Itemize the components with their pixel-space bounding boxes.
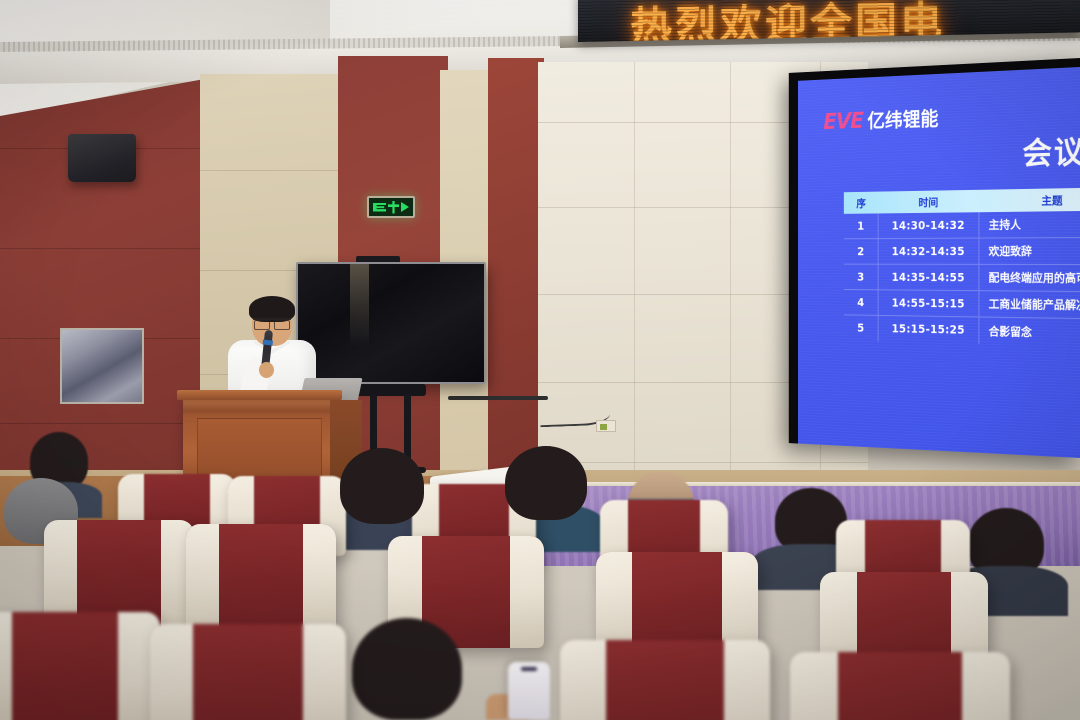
table-row: 1 14:30-14:32 主持人 xyxy=(844,211,1080,240)
table-row: 5 15:15-15:25 合影留念 xyxy=(844,315,1080,346)
direction-arrow-icon xyxy=(401,202,409,212)
eve-wordmark: EVE xyxy=(823,109,863,135)
agenda-table-header: 序 时间 主题 xyxy=(844,187,1080,213)
row-topic: 欢迎致辞 xyxy=(979,243,1080,259)
auditorium-seat xyxy=(150,624,346,720)
row-time: 14:55-15:15 xyxy=(879,290,980,316)
attendee-head xyxy=(340,448,424,524)
auditorium-seat xyxy=(560,640,770,720)
header-col-no: 序 xyxy=(844,195,879,211)
header-col-topic: 主题 xyxy=(979,191,1080,209)
table-row: 2 14:32-14:35 欢迎致辞 xyxy=(844,238,1080,265)
auditorium-seat xyxy=(186,524,336,634)
wall-outlet xyxy=(596,420,616,432)
row-no: 5 xyxy=(844,315,879,341)
agenda-table: 序 时间 主题 1 14:30-14:32 主持人 2 14:32-14:35 … xyxy=(844,187,1080,346)
row-time: 14:35-14:55 xyxy=(879,265,980,291)
running-person-glyph xyxy=(388,201,399,214)
row-time: 14:32-14:35 xyxy=(879,239,980,264)
podium-top xyxy=(177,390,342,400)
row-topic: 主持人 xyxy=(979,216,1080,233)
row-time: 14:30-14:32 xyxy=(879,212,980,238)
presenter-hand xyxy=(259,362,274,378)
wall-speaker-icon xyxy=(68,134,136,182)
smartphone-icon xyxy=(508,662,550,720)
header-col-time: 时间 xyxy=(879,193,980,210)
glasses-icon xyxy=(58,462,74,465)
row-no: 3 xyxy=(844,265,879,290)
glasses-icon xyxy=(253,318,291,326)
conference-photo-scene: 热烈欢迎全国电 EVE 亿纬锂能 会议 序 时间 主题 1 14:30-14:3… xyxy=(0,0,1080,720)
emergency-exit-icon xyxy=(367,196,415,218)
presentation-slide: EVE 亿纬锂能 会议 序 时间 主题 1 14:30-14:32 主持人 2 … xyxy=(798,67,1080,458)
wall-glass-panel xyxy=(60,328,144,404)
attendee-head xyxy=(505,446,587,520)
slide-title: 会议 xyxy=(1022,127,1080,173)
row-no: 4 xyxy=(844,290,879,315)
attendee-head xyxy=(352,618,462,720)
projection-screen-bezel: EVE 亿纬锂能 会议 序 时间 主题 1 14:30-14:32 主持人 2 … xyxy=(789,58,1080,458)
row-topic: 合影留念 xyxy=(979,323,1080,341)
right-red-column xyxy=(488,58,544,498)
auditorium-seat xyxy=(790,652,1010,720)
led-banner-text: 热烈欢迎全国电 xyxy=(630,0,945,42)
table-row: 3 14:35-14:55 配电终端应用的高可靠性电 xyxy=(844,265,1080,293)
exit-text-glyph xyxy=(373,203,386,212)
monitor-mount-hub xyxy=(354,384,426,396)
eve-chinese-name: 亿纬锂能 xyxy=(867,103,938,133)
row-no: 2 xyxy=(844,239,879,264)
auditorium-seat xyxy=(0,612,160,720)
row-time: 15:15-15:25 xyxy=(879,316,980,344)
podium-front-panel xyxy=(197,418,322,478)
row-topic: 工商业储能产品解决方案 xyxy=(979,296,1080,314)
monitor-display xyxy=(296,262,486,384)
row-no: 1 xyxy=(844,213,879,238)
eve-company-logo: EVE 亿纬锂能 xyxy=(823,103,938,135)
row-topic: 配电终端应用的高可靠性电 xyxy=(979,270,1080,287)
